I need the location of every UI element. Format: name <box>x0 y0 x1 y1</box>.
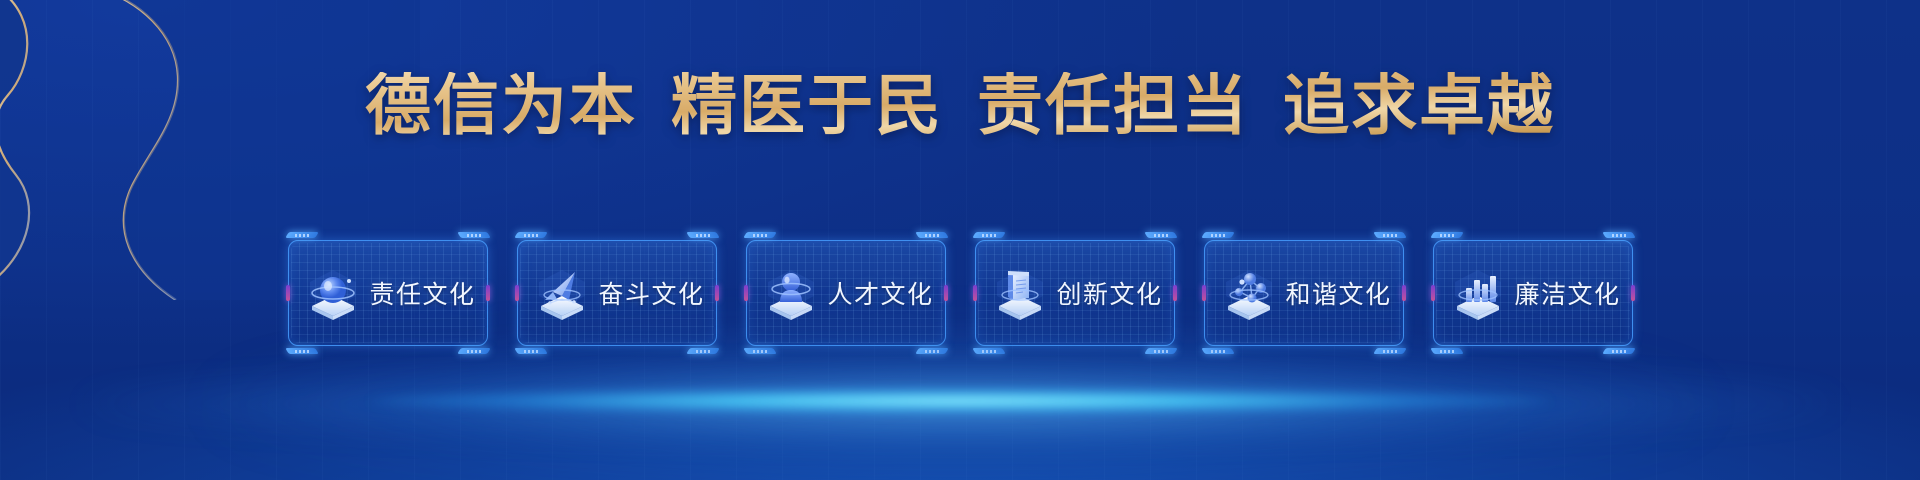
culture-card-innovation[interactable]: 创新文化 <box>975 240 1175 346</box>
headline-segment-1: 德信为本 <box>365 72 637 138</box>
card-side-tick-right <box>715 285 719 301</box>
card-side-tick-right <box>1173 285 1177 301</box>
card-side-tick-left <box>973 285 977 301</box>
card-corner-top-right <box>1608 232 1638 250</box>
card-side-tick-left <box>1202 285 1206 301</box>
globe-sphere-icon <box>302 262 364 324</box>
card-corner-top-right <box>692 232 722 250</box>
card-corner-top-right <box>921 232 951 250</box>
card-side-tick-right <box>1631 285 1635 301</box>
bar-chart-icon <box>1447 262 1509 324</box>
culture-card-integrity[interactable]: 廉洁文化 <box>1433 240 1633 346</box>
card-side-tick-left <box>744 285 748 301</box>
book-document-icon <box>989 262 1051 324</box>
card-corner-bottom-left <box>1428 336 1458 354</box>
card-corner-bottom-right <box>921 336 951 354</box>
card-label: 奋斗文化 <box>599 275 705 311</box>
card-corner-top-right <box>1150 232 1180 250</box>
card-corner-bottom-right <box>1150 336 1180 354</box>
card-corner-bottom-left <box>741 336 771 354</box>
card-side-tick-right <box>1402 285 1406 301</box>
card-corner-top-left <box>1199 232 1229 250</box>
card-label: 责任文化 <box>370 275 476 311</box>
headline-segment-4: 追求卓越 <box>1283 72 1555 138</box>
card-label: 创新文化 <box>1057 275 1163 311</box>
culture-card-talent[interactable]: 人才文化 <box>746 240 946 346</box>
card-side-tick-right <box>486 285 490 301</box>
person-icon <box>760 262 822 324</box>
page-title: 德信为本精医于民责任担当追求卓越 <box>0 72 1920 138</box>
card-corner-top-left <box>741 232 771 250</box>
culture-banner: 德信为本精医于民责任担当追求卓越 <box>0 0 1920 480</box>
culture-card-harmony[interactable]: 和谐文化 <box>1204 240 1404 346</box>
culture-card-row: 责任文化 <box>0 240 1920 346</box>
card-corner-top-left <box>512 232 542 250</box>
bottom-glow-wide <box>80 372 1840 436</box>
culture-card-striving[interactable]: 奋斗文化 <box>517 240 717 346</box>
card-corner-bottom-right <box>463 336 493 354</box>
card-side-tick-left <box>286 285 290 301</box>
bottom-glow-halo <box>210 330 1710 480</box>
card-corner-top-left <box>283 232 313 250</box>
card-corner-top-right <box>463 232 493 250</box>
headline-segment-2: 精医于民 <box>671 72 943 138</box>
card-corner-top-left <box>1428 232 1458 250</box>
card-corner-top-right <box>1379 232 1409 250</box>
card-corner-bottom-left <box>970 336 1000 354</box>
card-corner-bottom-left <box>512 336 542 354</box>
card-side-tick-left <box>1431 285 1435 301</box>
bottom-glow-beam <box>370 388 1550 414</box>
card-label: 和谐文化 <box>1286 275 1392 311</box>
card-corner-bottom-right <box>1379 336 1409 354</box>
card-corner-bottom-right <box>1608 336 1638 354</box>
card-corner-bottom-left <box>283 336 313 354</box>
headline-segment-3: 责任担当 <box>977 72 1249 138</box>
molecule-icon <box>1218 262 1280 324</box>
culture-card-responsibility[interactable]: 责任文化 <box>288 240 488 346</box>
card-corner-bottom-left <box>1199 336 1229 354</box>
card-side-tick-right <box>944 285 948 301</box>
card-label: 廉洁文化 <box>1515 275 1621 311</box>
card-corner-bottom-right <box>692 336 722 354</box>
rocket-icon <box>531 262 593 324</box>
card-corner-top-left <box>970 232 1000 250</box>
card-label: 人才文化 <box>828 275 934 311</box>
card-side-tick-left <box>515 285 519 301</box>
